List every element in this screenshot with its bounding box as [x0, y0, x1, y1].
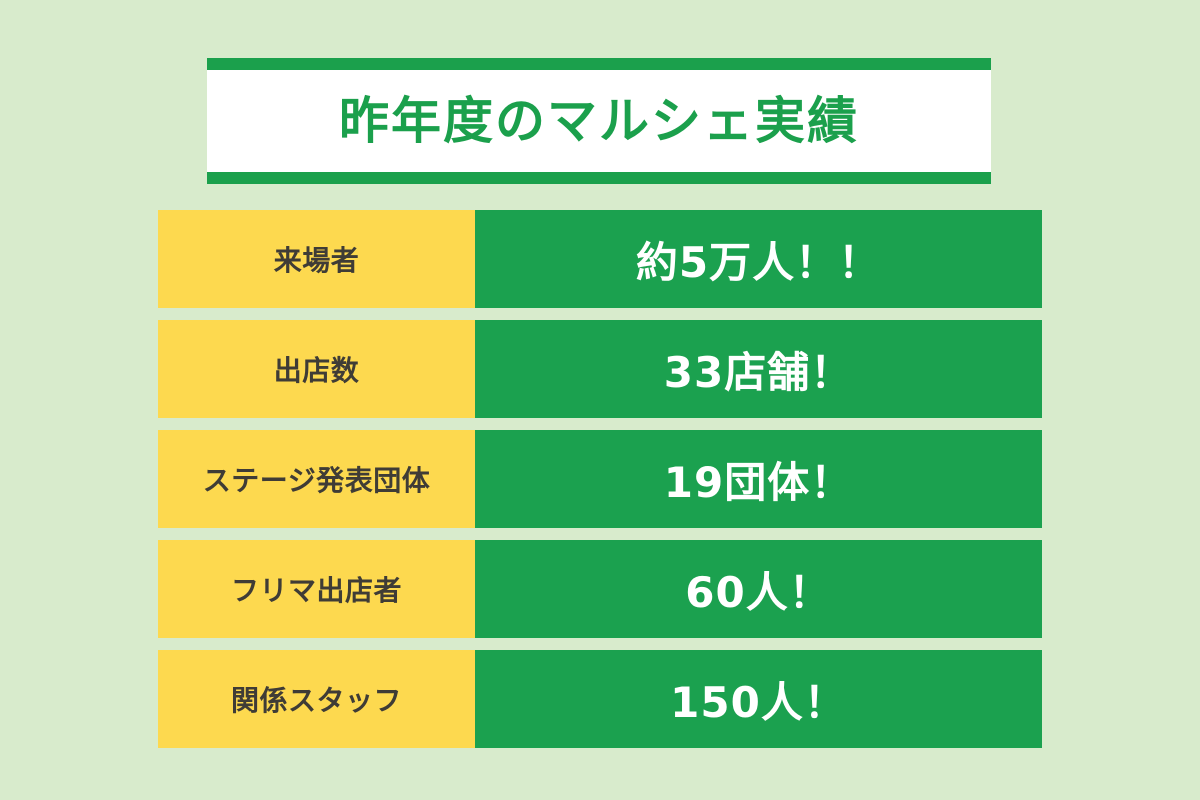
row-label-stage-groups: ステージ発表団体 [158, 430, 475, 528]
row-label-visitors: 来場者 [158, 210, 475, 308]
row-value-flea-market-sellers: 60人！ [475, 540, 1042, 638]
row-value-shops: 33店舗！ [475, 320, 1042, 418]
table-row: フリマ出店者 60人！ [158, 540, 1042, 638]
table-row: 出店数 33店舗！ [158, 320, 1042, 418]
table-row: 来場者 約5万人！！ [158, 210, 1042, 308]
title-banner: 昨年度のマルシェ実績 [207, 58, 991, 184]
page-title: 昨年度のマルシェ実績 [339, 96, 859, 146]
stats-table: 来場者 約5万人！！ 出店数 33店舗！ ステージ発表団体 19団体！ フリマ出… [158, 210, 1042, 748]
table-row: 関係スタッフ 150人！ [158, 650, 1042, 748]
row-value-stage-groups: 19団体！ [475, 430, 1042, 528]
row-label-shops: 出店数 [158, 320, 475, 418]
row-value-staff: 150人！ [475, 650, 1042, 748]
row-label-flea-market-sellers: フリマ出店者 [158, 540, 475, 638]
row-value-visitors: 約5万人！！ [475, 210, 1042, 308]
row-label-staff: 関係スタッフ [158, 650, 475, 748]
table-row: ステージ発表団体 19団体！ [158, 430, 1042, 528]
